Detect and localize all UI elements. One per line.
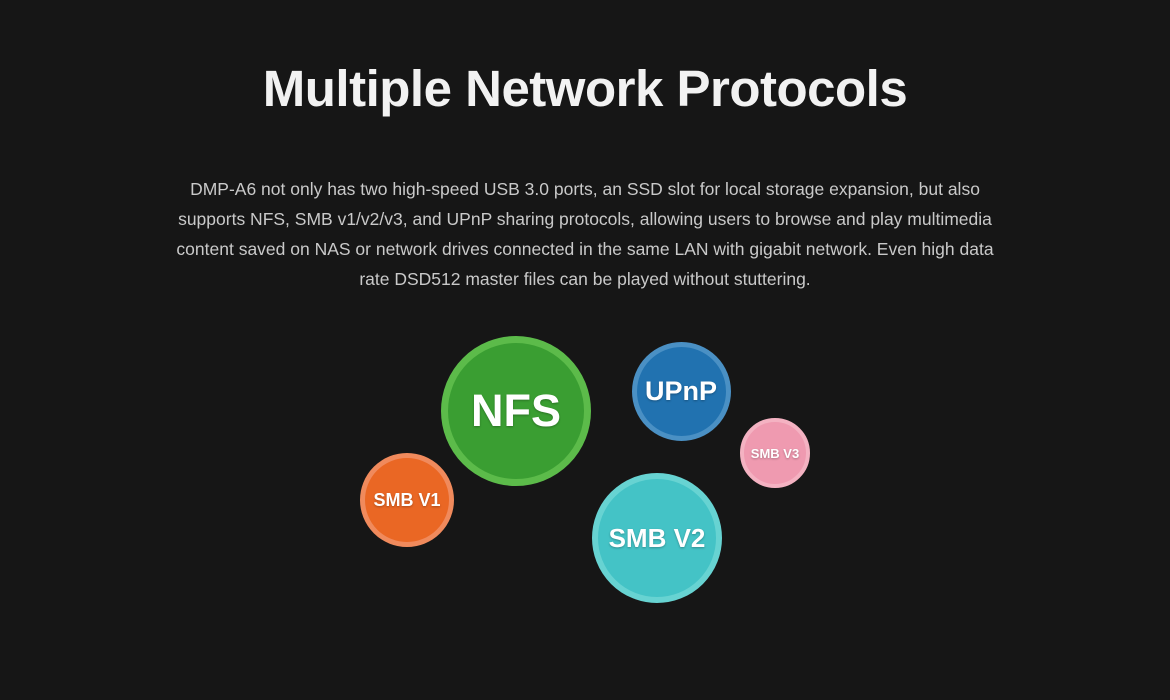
protocol-bubble-group: NFSUPnPSMB V2SMB V1SMB V3	[0, 0, 1170, 700]
protocol-bubble-label: UPnP	[645, 376, 717, 407]
protocol-bubble-label: SMB V3	[751, 446, 799, 461]
protocols-page: Multiple Network Protocols DMP-A6 not on…	[0, 0, 1170, 700]
protocol-bubble-nfs: NFS	[441, 336, 591, 486]
protocol-bubble-smb-v3: SMB V3	[740, 418, 810, 488]
protocol-bubble-label: NFS	[471, 385, 561, 437]
protocol-bubble-upnp: UPnP	[632, 342, 731, 441]
protocol-bubble-smb-v1: SMB V1	[360, 453, 454, 547]
protocol-bubble-smb-v2: SMB V2	[592, 473, 722, 603]
protocol-bubble-label: SMB V2	[609, 523, 706, 554]
protocol-bubble-label: SMB V1	[373, 490, 440, 511]
